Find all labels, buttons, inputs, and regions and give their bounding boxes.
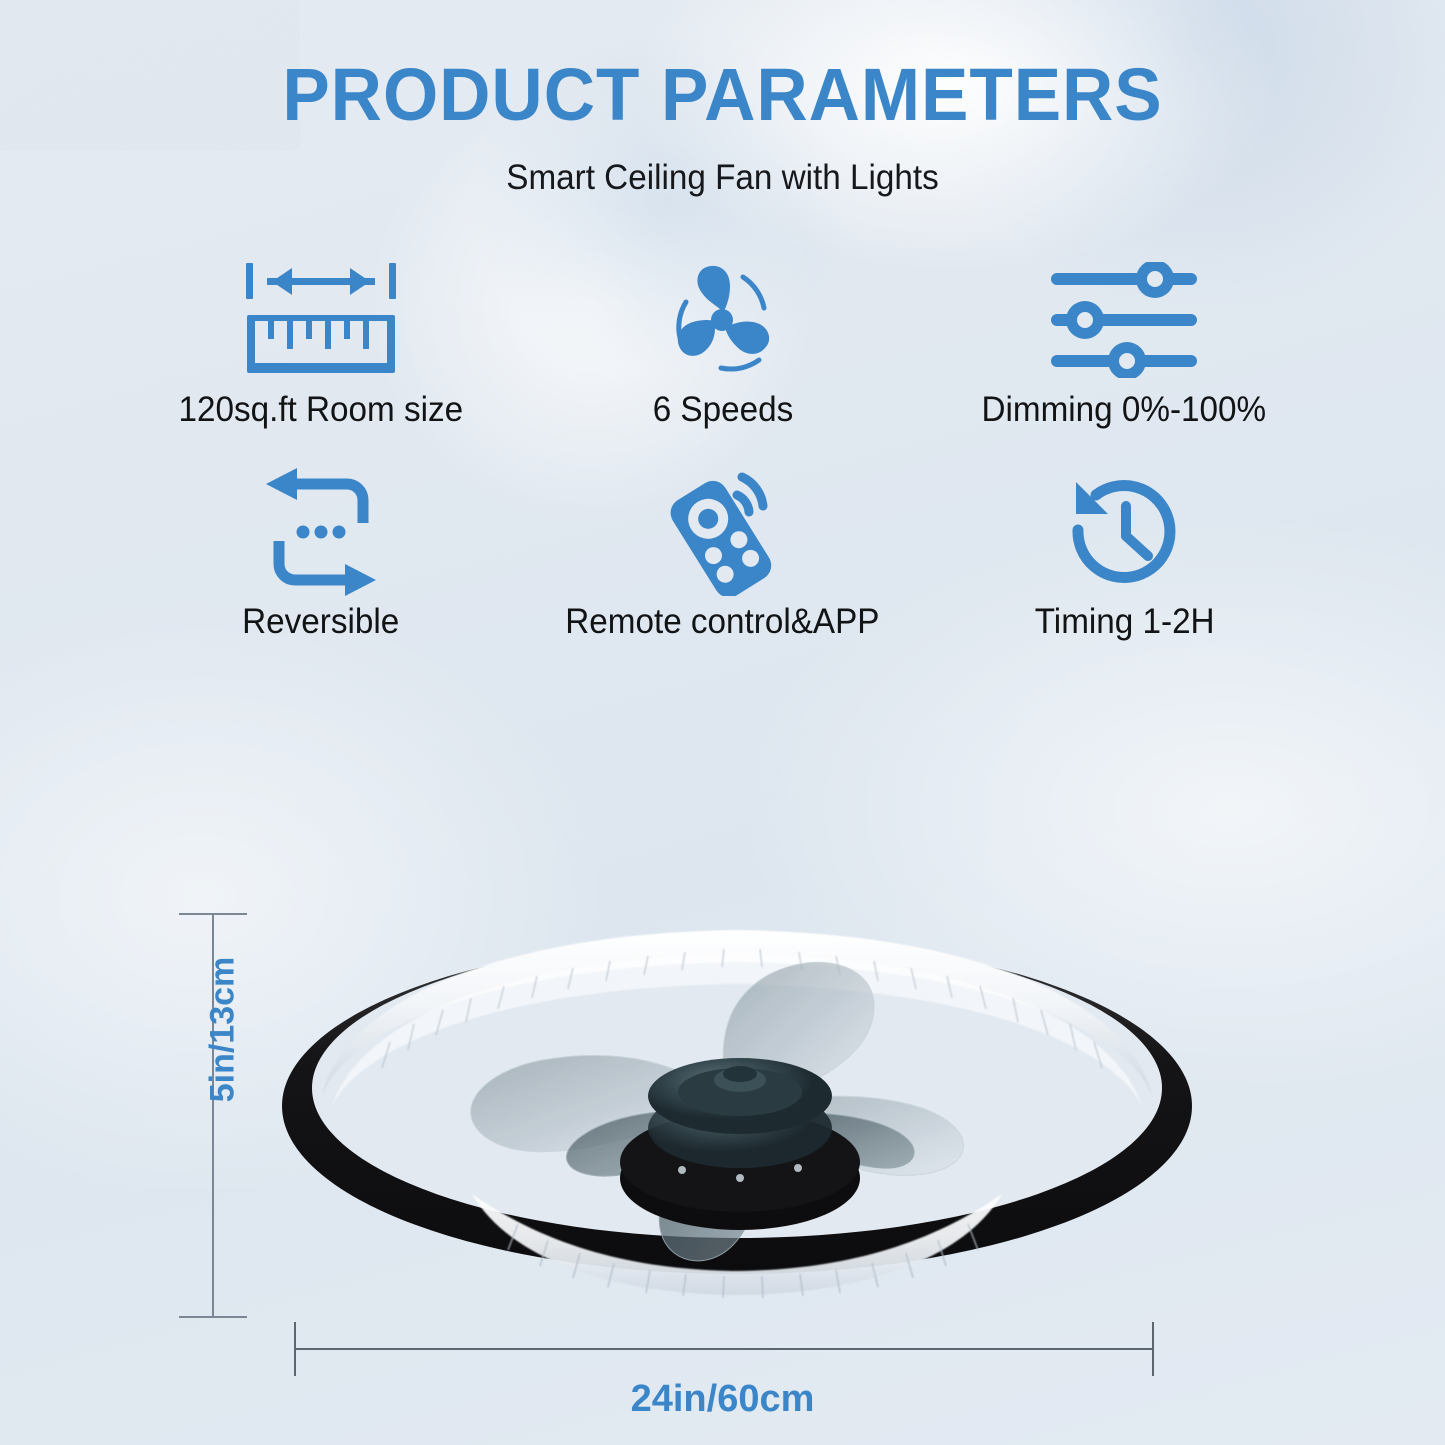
remote-control-icon — [657, 462, 787, 602]
product-image — [262, 878, 1212, 1328]
feature-reversible: Reversible — [120, 462, 522, 674]
header: PRODUCT PARAMETERS Smart Ceiling Fan wit… — [0, 58, 1445, 198]
feature-room-size: 120sq.ft Room size — [120, 250, 522, 462]
feature-dimming: Dimming 0%-100% — [923, 250, 1325, 462]
width-dimension-line — [294, 1348, 1154, 1350]
feature-grid: 120sq.ft Room size — [120, 250, 1325, 674]
feature-label: 120sq.ft Room size — [179, 390, 464, 430]
product-parameters-infographic: PRODUCT PARAMETERS Smart Ceiling Fan wit… — [0, 0, 1445, 1445]
feature-speeds: 6 Speeds — [522, 250, 924, 462]
dimension-cap-left — [294, 1322, 296, 1376]
fan-blades-icon — [658, 250, 786, 390]
feature-label: Remote control&APP — [565, 602, 879, 642]
clock-timer-icon — [1060, 462, 1188, 602]
page-subtitle: Smart Ceiling Fan with Lights — [36, 158, 1409, 198]
feature-label: Timing 1-2H — [1034, 602, 1214, 642]
height-dimension-label: 5in/13cm — [203, 957, 242, 1103]
dimension-cap-top — [179, 913, 247, 915]
dimension-cap-right — [1152, 1322, 1154, 1376]
page-title: PRODUCT PARAMETERS — [29, 58, 1416, 132]
dimension-cap-bottom — [179, 1316, 247, 1318]
feature-remote-app: Remote control&APP — [522, 462, 924, 674]
feature-label: 6 Speeds — [652, 390, 793, 430]
width-dimension-label: 24in/60cm — [0, 1378, 1445, 1421]
feature-timing: Timing 1-2H — [923, 462, 1325, 674]
feature-label: Dimming 0%-100% — [982, 390, 1267, 430]
feature-label: Reversible — [242, 602, 399, 642]
reverse-arrows-icon — [259, 462, 383, 602]
ruler-measure-icon — [241, 250, 401, 390]
sliders-dimming-icon — [1049, 250, 1199, 390]
